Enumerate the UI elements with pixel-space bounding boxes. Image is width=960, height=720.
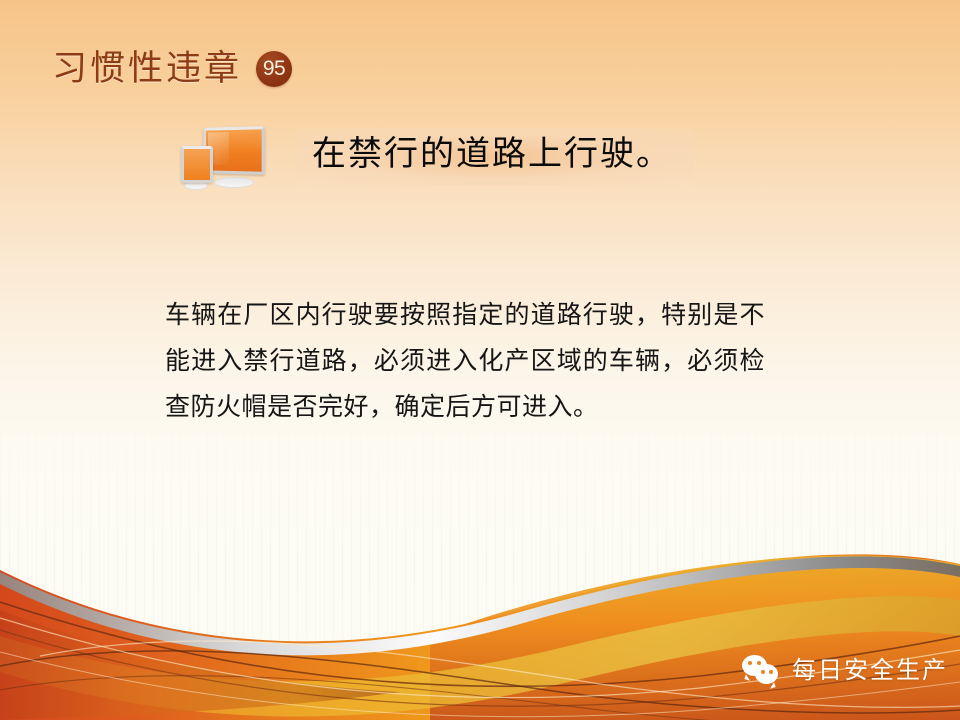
slide-canvas: 习惯性违章 95 在禁行的道路上行驶。 车辆在厂区内行驶要按照指定的道路行驶，特… — [0, 0, 960, 720]
heading-text: 在禁行的道路上行驶。 — [312, 136, 672, 173]
heading-banner: 在禁行的道路上行驶。 — [296, 128, 694, 186]
status-badge: 95 — [256, 51, 292, 87]
wechat-eye-front-right — [769, 670, 773, 674]
wechat-eye-front-left — [761, 670, 765, 674]
wechat-watermark: 每日安全生产 — [742, 655, 948, 687]
heading-row: 在禁行的道路上行驶。 — [178, 122, 694, 192]
slide-title-row: 习惯性违章 95 — [52, 48, 292, 90]
body-paragraph: 车辆在厂区内行驶要按照指定的道路行驶，特别是不能进入禁行道路，必须进入化产区域的… — [165, 293, 765, 431]
page-title: 习惯性违章 — [52, 48, 242, 90]
wechat-icon — [742, 655, 782, 687]
wechat-eye-back-left — [748, 661, 752, 665]
wechat-eye-back-right — [757, 661, 761, 665]
wechat-bubble-front — [755, 664, 778, 684]
watermark-label: 每日安全生产 — [792, 656, 948, 686]
screen-small — [181, 146, 213, 183]
screen-base-large — [214, 177, 254, 188]
dual-screen-icon — [178, 124, 264, 190]
